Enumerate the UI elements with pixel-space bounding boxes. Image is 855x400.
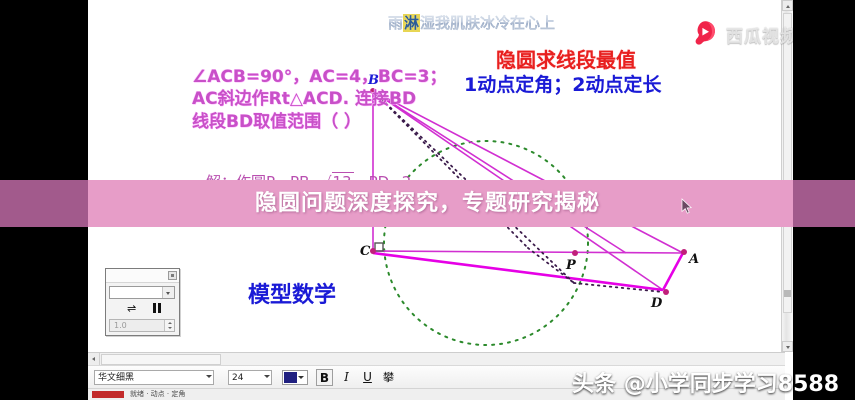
lyrics-highlight: 淋 (403, 14, 420, 32)
lesson-subtitle: 1动点定角；2动点定长 (464, 70, 661, 97)
vertical-scrollbar[interactable] (781, 0, 793, 352)
whiteboard-page (88, 0, 785, 352)
color-swatch (284, 372, 297, 383)
status-text: 就绪 · 动点 · 定角 (130, 390, 185, 399)
font-family-value: 华文细黑 (98, 372, 134, 384)
scrollbar-grip-icon (784, 290, 791, 297)
title-banner-text: 隐圆问题深度探究，专题研究揭秘 (0, 180, 855, 227)
horizontal-scrollbar[interactable] (88, 352, 785, 366)
chevron-down-icon[interactable] (298, 376, 304, 379)
font-size-select[interactable]: 24 (228, 370, 272, 385)
stepper-arrows[interactable] (164, 320, 174, 331)
scroll-down-button[interactable] (782, 341, 793, 352)
status-indicator (92, 391, 124, 398)
lyrics-prefix: 雨 (388, 14, 403, 32)
problem-statement: ∠ACB=90°，AC=4，BC=3； AC斜边作Rt△ACD. 连接BD 线段… (192, 66, 446, 133)
chevron-down-icon[interactable] (162, 287, 174, 298)
font-family-select[interactable]: 华文细黑 (94, 370, 214, 385)
xigua-video-logo: 西瓜视频 (692, 18, 793, 48)
xigua-brand-text: 西瓜视频 (726, 22, 793, 47)
channel-watermark: 头条 @小学同步学习8588 (572, 366, 839, 398)
speed-value: 1.0 (114, 320, 127, 331)
xigua-play-icon (692, 20, 718, 46)
karaoke-lyrics-line: 雨淋湿我肌肤冰冷在心上 (388, 12, 555, 33)
model-math-label: 模型数学 (248, 277, 336, 309)
problem-line-2: AC斜边作Rt△ACD. 连接BD (192, 88, 446, 110)
font-size-value: 24 (232, 372, 243, 384)
video-player-frame: C A D P B 雨淋湿我肌肤冰冷在心上 隐圆求线段最值 1动点定角；2动点定… (0, 0, 855, 400)
close-icon[interactable] (168, 271, 177, 280)
text-color-picker[interactable] (282, 370, 308, 385)
animation-select[interactable] (109, 286, 175, 299)
pause-icon[interactable] (153, 303, 161, 313)
lesson-title: 隐圆求线段最值 (496, 44, 636, 73)
phonetic-guide-button[interactable]: 攀 (380, 369, 397, 386)
animation-buttons: ⇌ (109, 302, 175, 316)
chevron-down-icon[interactable] (264, 375, 270, 378)
problem-line-3: 线段BD取值范围（ ） (192, 111, 446, 133)
mouse-cursor-icon (681, 198, 693, 215)
swap-direction-icon[interactable]: ⇌ (127, 303, 136, 315)
chevron-down-icon[interactable] (206, 375, 212, 378)
scroll-up-button[interactable] (782, 0, 793, 11)
scrollbar-thumb[interactable] (783, 13, 792, 313)
italic-button[interactable]: I (338, 369, 355, 386)
problem-line-1: ∠ACB=90°，AC=4，BC=3； (192, 66, 446, 88)
hscrollbar-thumb[interactable] (101, 354, 221, 365)
lyrics-suffix: 湿我肌肤冰冷在心上 (420, 14, 555, 32)
bold-button[interactable]: B (316, 369, 333, 386)
speed-stepper[interactable]: 1.0 (109, 319, 175, 332)
animation-control-panel[interactable]: ⇌ 1.0 (105, 268, 180, 336)
underline-button[interactable]: U (359, 369, 376, 386)
